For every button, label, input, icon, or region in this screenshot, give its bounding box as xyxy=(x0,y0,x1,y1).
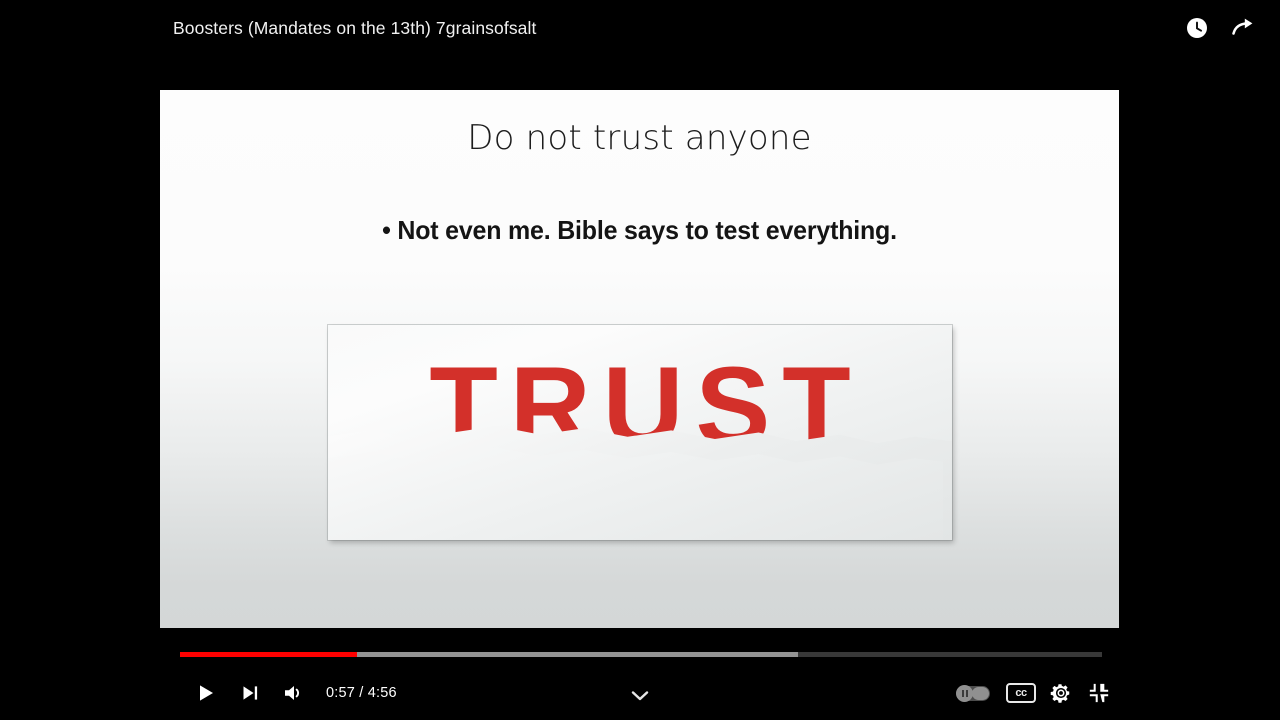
settings-gear-icon[interactable] xyxy=(1048,672,1074,714)
cc-label: cc xyxy=(1015,688,1026,699)
top-actions xyxy=(1184,15,1256,41)
video-title: Boosters (Mandates on the 13th) 7grainso… xyxy=(173,18,1184,39)
slide-title: Do not trust anyone xyxy=(160,118,1119,158)
slide-bullet-text: • Not even me. Bible says to test everyt… xyxy=(179,215,1100,246)
controls-right-group: cc xyxy=(956,672,1280,714)
player-bottom-bar: 0:57 / 4:56 cc xyxy=(0,644,1280,720)
trust-word-top: TRUST xyxy=(328,351,952,463)
autoplay-toggle[interactable] xyxy=(956,686,990,701)
video-slide-area[interactable]: Do not trust anyone • Not even me. Bible… xyxy=(160,90,1119,628)
progress-played xyxy=(180,652,357,657)
autoplay-knob-pause-icon xyxy=(956,685,973,702)
chevron-down-icon[interactable] xyxy=(628,686,652,706)
share-icon[interactable] xyxy=(1230,15,1256,41)
closed-captions-button[interactable]: cc xyxy=(1006,683,1036,703)
next-button[interactable] xyxy=(228,672,272,714)
torn-paper-trust-image: TRUST TRUST xyxy=(328,325,952,540)
autoplay-track xyxy=(972,687,989,700)
player-top-bar: Boosters (Mandates on the 13th) 7grainso… xyxy=(0,0,1280,56)
controls-left-group: 0:57 / 4:56 xyxy=(0,672,397,714)
play-button[interactable] xyxy=(184,672,228,714)
video-player: Boosters (Mandates on the 13th) 7grainso… xyxy=(0,0,1280,720)
exit-fullscreen-icon[interactable] xyxy=(1086,672,1112,714)
progress-bar[interactable] xyxy=(180,652,1102,657)
watch-later-icon[interactable] xyxy=(1184,15,1210,41)
time-display: 0:57 / 4:56 xyxy=(326,685,397,701)
volume-button[interactable] xyxy=(272,672,316,714)
